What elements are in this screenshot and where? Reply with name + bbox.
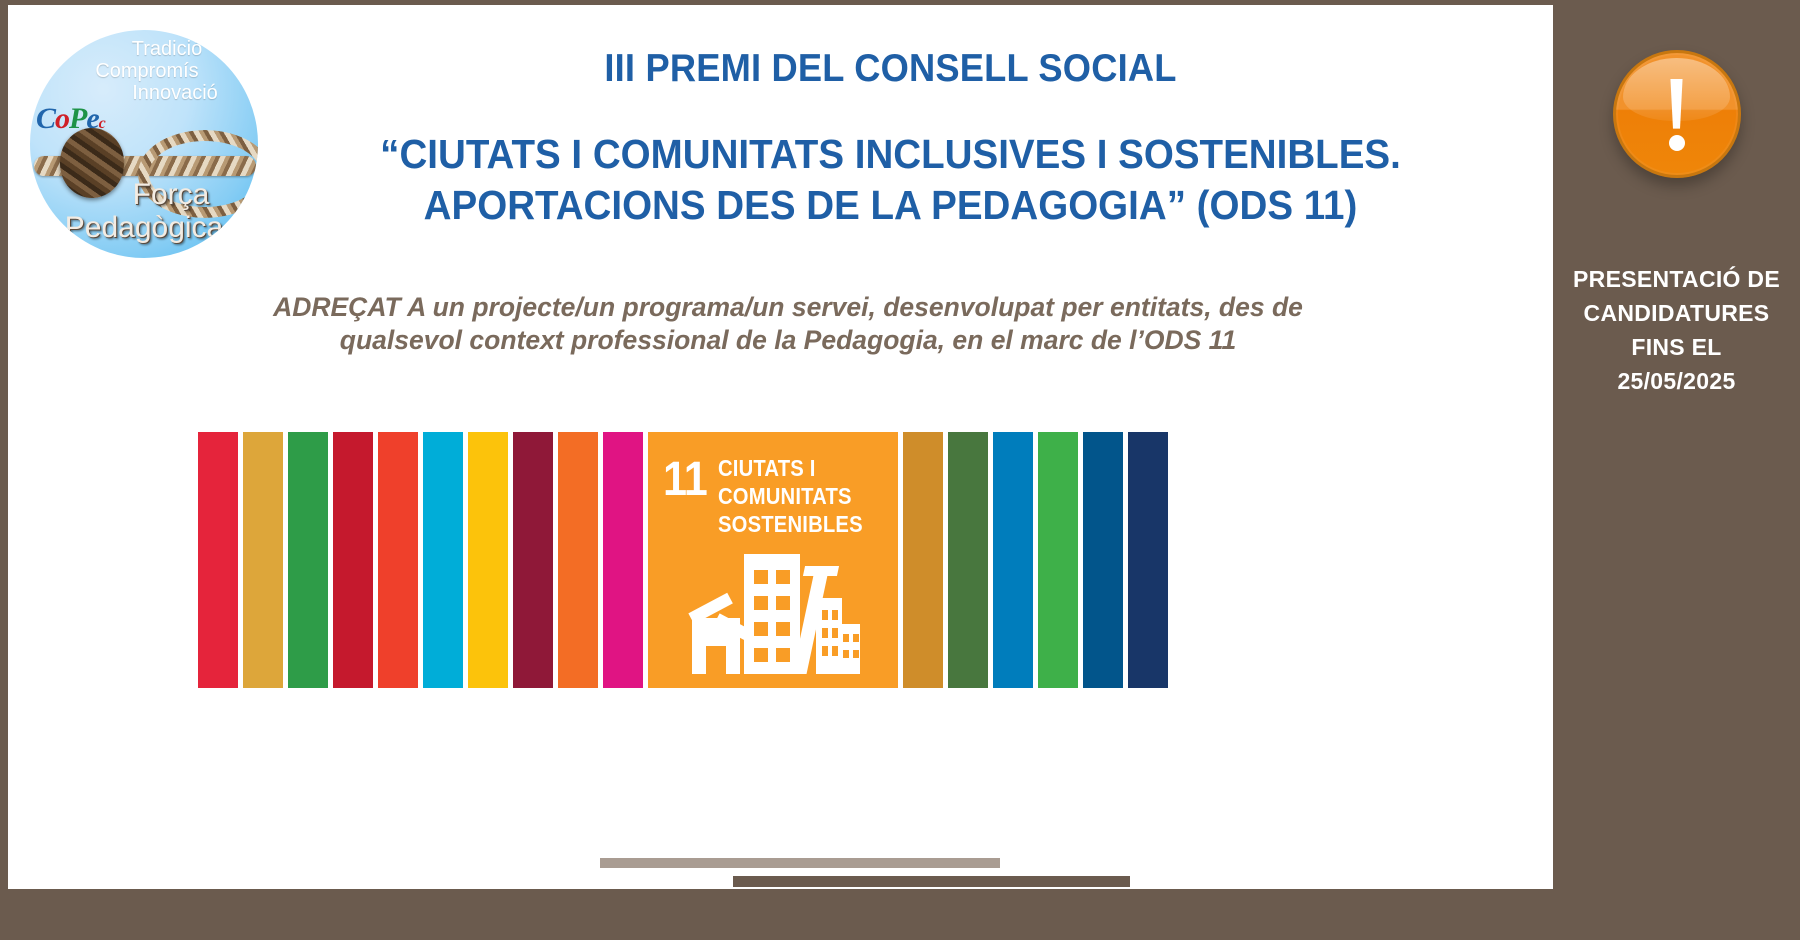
logo-line-tradicio: Tradició [30,38,258,60]
deadline-text: PRESENTACIÓ DE CANDIDATURES FINS EL 25/0… [1553,262,1800,398]
sdg-bar-6 [423,432,463,688]
title-block: III PREMI DEL CONSELL SOCIAL “CIUTATS I … [263,47,1518,231]
slide-root: Tradició Compromís Innovació CoPec Força… [0,0,1800,940]
award-theme-line-2: APORTACIONS DES DE LA PEDAGOGIA” (ODS 11… [301,180,1481,231]
sdg-bar-5 [378,432,418,688]
decorative-bar-dark [733,876,1130,887]
sdg-bar-8 [513,432,553,688]
sdg-color-strip: 11 CIUTATS I COMUNITATS SOSTENIBLES [198,432,1173,688]
sdg-bar-2 [243,432,283,688]
alert-badge [1613,50,1741,178]
city-buildings-icon [692,554,860,674]
sdg-bar-1 [198,432,238,688]
deadline-line-2: CANDIDATURES [1553,296,1800,330]
award-edition-title: III PREMI DEL CONSELL SOCIAL [307,47,1474,91]
sdg-bar-9 [558,432,598,688]
eligibility-subtitle: ADREÇAT A un projecte/un programa/un ser… [198,291,1378,357]
sdg-bar-13 [948,432,988,688]
exclamation-dot [1669,135,1685,151]
deadline-date: 25/05/2025 [1553,364,1800,398]
logo-line-innovacio: Innovació [30,82,258,104]
award-theme-line-1: “CIUTATS I COMUNITATS INCLUSIVES I SOSTE… [301,129,1481,180]
deadline-sidebar: PRESENTACIÓ DE CANDIDATURES FINS EL 25/0… [1553,0,1800,940]
logo-line-compromis: Compromís [30,60,258,82]
eligibility-line-1: ADREÇAT A un projecte/un programa/un ser… [198,291,1378,324]
sdg-11-panel: 11 CIUTATS I COMUNITATS SOSTENIBLES [648,432,898,688]
deadline-line-1: PRESENTACIÓ DE [1553,262,1800,296]
sdg-bar-15 [1038,432,1078,688]
sdg-11-label-line-2: COMUNITATS [718,482,876,510]
logo-top-text: Tradició Compromís Innovació [30,38,258,104]
sdg-bar-14 [993,432,1033,688]
sdg-bar-4 [333,432,373,688]
logo-line-pedagogica: Pedagògica [30,211,258,244]
sdg-bar-10 [603,432,643,688]
sdg-bar-7 [468,432,508,688]
deadline-line-3: FINS EL [1553,330,1800,364]
eligibility-line-2: qualsevol context professional de la Ped… [198,324,1378,357]
sdg-bar-12 [903,432,943,688]
sdg-bar-16 [1083,432,1123,688]
sdg-bar-17 [1128,432,1168,688]
logo-line-forca: Força [30,178,258,211]
decorative-bar-light [600,858,1000,868]
sdg-11-label-line-3: SOSTENIBLES [718,510,876,538]
forca-pedagogica-logo: Tradició Compromís Innovació CoPec Força… [30,30,258,258]
slide-content-panel: Tradició Compromís Innovació CoPec Força… [8,5,1553,889]
award-theme-title: “CIUTATS I COMUNITATS INCLUSIVES I SOSTE… [301,129,1481,231]
sdg-11-label: CIUTATS I COMUNITATS SOSTENIBLES [718,454,876,538]
sdg-bar-3 [288,432,328,688]
exclamation-circle-icon [1613,50,1741,178]
sdg-11-number: 11 [663,456,707,504]
sdg-11-label-line-1: CIUTATS I [718,454,876,482]
logo-bottom-text: Força Pedagògica [30,178,258,244]
